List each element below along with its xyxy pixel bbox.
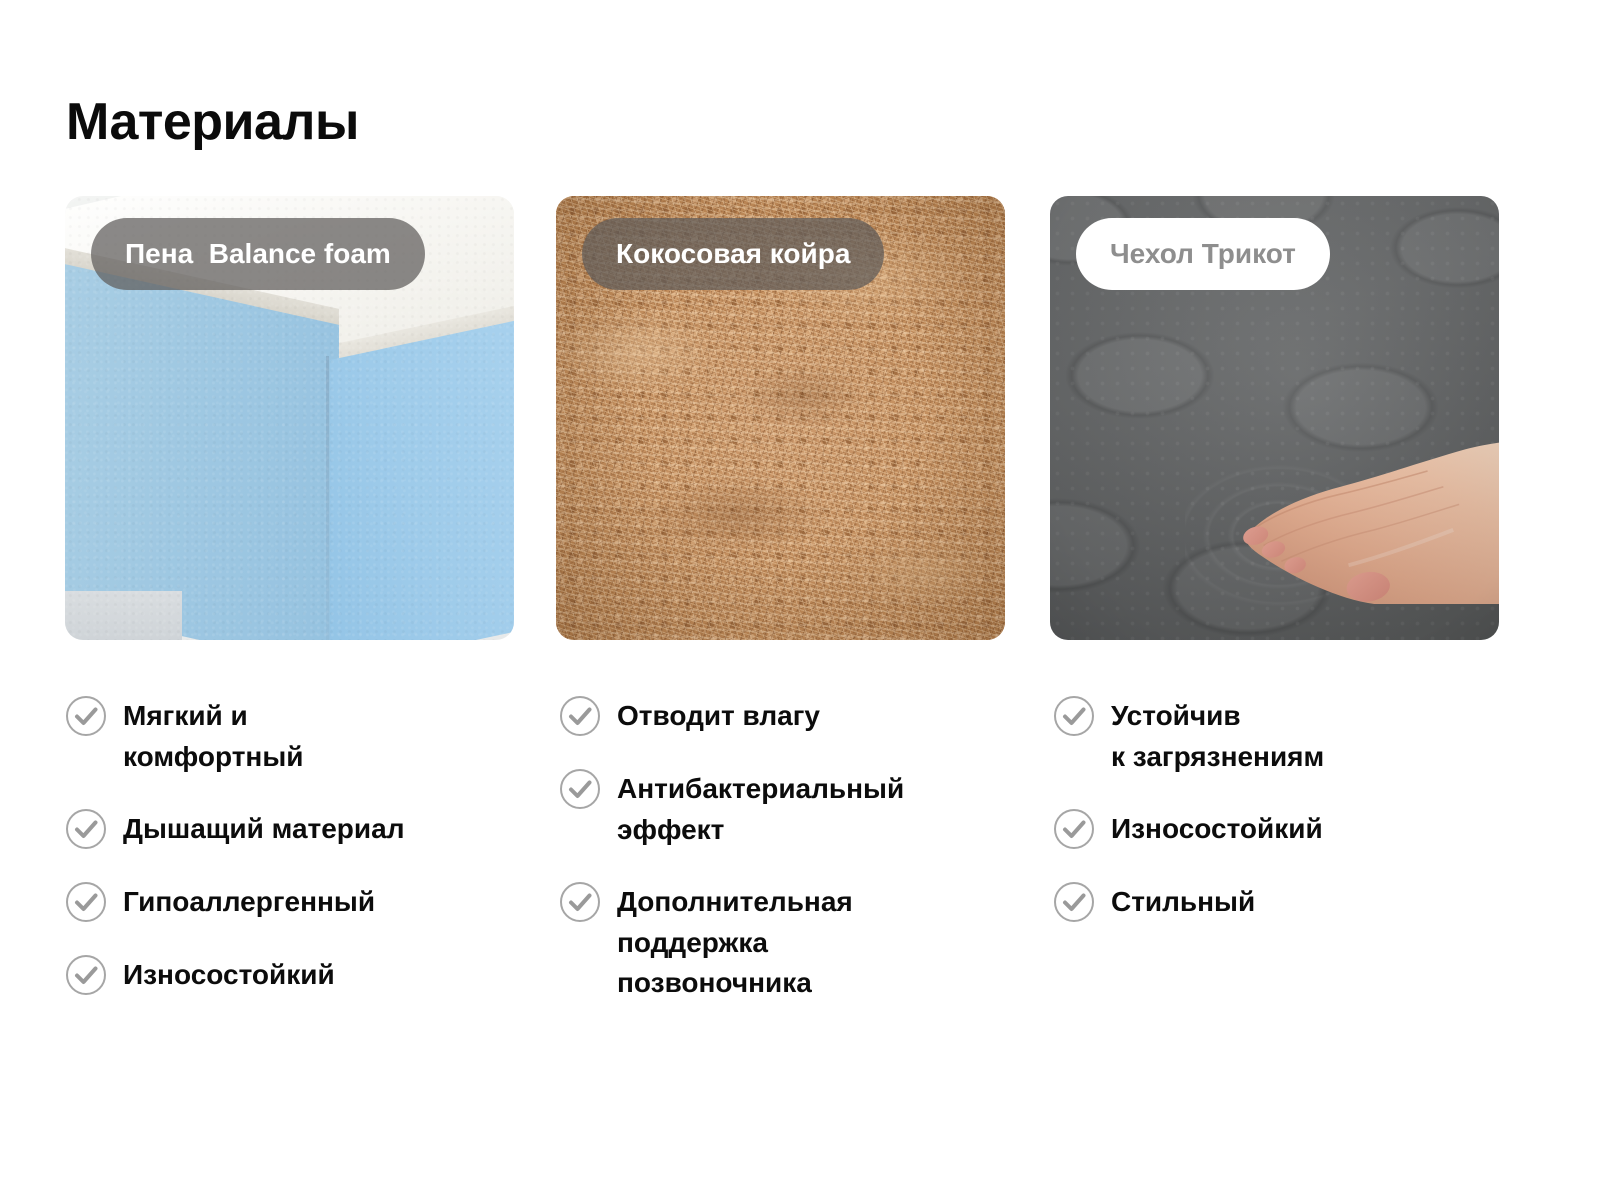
material-cards-row: Пена Balance foam Кокосовая койра [65,196,1531,640]
feature-label: Устойчив к загрязнениям [1111,694,1324,777]
feature-column-foam: Мягкий и комфортный Дышащий материал Гип… [65,694,525,996]
list-item: Отводит влагу [559,694,1019,737]
feature-column-cover: Устойчив к загрязнениям Износостойкий Ст… [1053,694,1513,923]
feature-label: Стильный [1111,880,1255,923]
feature-label: Дышащий материал [123,807,404,850]
check-circle-icon [65,695,107,737]
check-circle-icon [559,768,601,810]
material-card-cover[interactable]: Чехол Трикот [1050,196,1499,640]
list-item: Стильный [1053,880,1513,923]
list-item: Дышащий материал [65,807,525,850]
material-card-foam[interactable]: Пена Balance foam [65,196,514,640]
material-badge-coir: Кокосовая койра [582,218,884,290]
list-item: Дополнительная поддержка позвоночника [559,880,1019,1004]
feature-column-coir: Отводит влагу Антибактериальный эффект Д… [559,694,1019,1004]
check-circle-icon [1053,881,1095,923]
materials-section: Материалы Пена Balance foam [0,0,1600,1200]
check-circle-icon [1053,695,1095,737]
feature-label: Антибактериальный эффект [617,767,904,850]
check-circle-icon [65,808,107,850]
feature-label: Гипоаллергенный [123,880,375,923]
list-item: Антибактериальный эффект [559,767,1019,850]
feature-label: Износостойкий [123,953,335,996]
list-item: Гипоаллергенный [65,880,525,923]
check-circle-icon [65,954,107,996]
feature-label: Износостойкий [1111,807,1323,850]
check-circle-icon [559,695,601,737]
list-item: Износостойкий [65,953,525,996]
feature-label: Дополнительная поддержка позвоночника [617,880,853,1004]
material-badge-foam: Пена Balance foam [91,218,425,290]
list-item: Устойчив к загрязнениям [1053,694,1513,777]
check-circle-icon [1053,808,1095,850]
feature-label: Мягкий и комфортный [123,694,303,777]
material-badge-cover: Чехол Трикот [1076,218,1330,290]
list-item: Мягкий и комфортный [65,694,525,777]
page-title: Материалы [66,95,359,150]
feature-label: Отводит влагу [617,694,820,737]
check-circle-icon [559,881,601,923]
list-item: Износостойкий [1053,807,1513,850]
material-card-coir[interactable]: Кокосовая койра [556,196,1005,640]
check-circle-icon [65,881,107,923]
